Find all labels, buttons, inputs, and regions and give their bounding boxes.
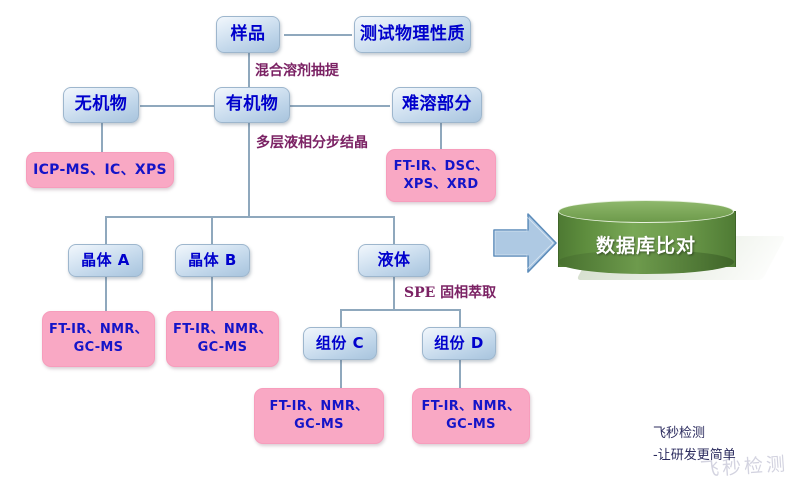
node-crystal-a[interactable]: 晶体 A <box>68 244 143 277</box>
connector-insoluble-to-methods <box>440 122 442 149</box>
node-sample[interactable]: 样品 <box>216 16 280 53</box>
connector-liquid-to-spe-bus <box>393 277 395 309</box>
node-liquid[interactable]: 液体 <box>358 244 430 277</box>
connector-inorganic-to-organic <box>140 105 214 107</box>
node-insoluble[interactable]: 难溶部分 <box>392 87 482 123</box>
methods-crystal-a-text: FT-IR、NMR、 GC-MS <box>49 321 148 356</box>
node-fraction-d[interactable]: 组份 D <box>422 327 496 360</box>
diagram-canvas: 样品 测试物理性质 无机物 有机物 难溶部分 晶体 A 晶体 B 液体 组份 C… <box>0 0 795 486</box>
methods-fraction-d-line1: FT-IR、NMR、 <box>422 399 521 414</box>
methods-crystal-b-line2: GC-MS <box>198 340 248 355</box>
connector-spe-to-fraction-c <box>340 309 342 327</box>
connector-bus-to-liquid <box>393 216 395 244</box>
cylinder-top-ellipse <box>558 200 734 223</box>
connector-sample-to-physical-test <box>284 34 352 36</box>
edge-label-crystallization: 多层液相分步结晶 <box>256 132 368 152</box>
methods-crystal-a-line1: FT-IR、NMR、 <box>49 322 148 337</box>
methods-crystal-a-line2: GC-MS <box>74 340 124 355</box>
connector-sample-to-organic <box>248 52 250 92</box>
connector-organic-to-bus <box>248 122 250 217</box>
connector-fraction-c-to-methods <box>340 360 342 388</box>
connector-spe-bus <box>340 309 460 311</box>
connector-fraction-d-to-methods <box>459 360 461 388</box>
right-arrow-icon <box>492 212 558 274</box>
database-label: 数据库比对 <box>558 222 734 266</box>
connector-branch-bus <box>105 216 395 218</box>
edge-label-extraction: 混合溶剂抽提 <box>255 60 339 80</box>
connector-crystal-a-to-methods <box>105 277 107 311</box>
node-crystal-b[interactable]: 晶体 B <box>175 244 250 277</box>
methods-fraction-d-text: FT-IR、NMR、 GC-MS <box>422 398 521 433</box>
methods-crystal-b-line1: FT-IR、NMR、 <box>173 322 272 337</box>
methods-crystal-b-text: FT-IR、NMR、 GC-MS <box>173 321 272 356</box>
connector-crystal-b-to-methods <box>211 277 213 311</box>
node-organic[interactable]: 有机物 <box>214 87 290 123</box>
brand-watermark: 飞秒检测 <box>699 449 789 482</box>
methods-fraction-c-text: FT-IR、NMR、 GC-MS <box>270 398 369 433</box>
connector-inorganic-to-methods <box>101 122 103 152</box>
methods-inorganic[interactable]: ICP-MS、IC、XPS <box>26 152 174 188</box>
connector-bus-to-crystal-a <box>105 216 107 244</box>
methods-fraction-d[interactable]: FT-IR、NMR、 GC-MS <box>412 388 530 444</box>
methods-crystal-b[interactable]: FT-IR、NMR、 GC-MS <box>166 311 279 367</box>
methods-insoluble-line1: FT-IR、DSC、 <box>394 159 489 174</box>
methods-insoluble[interactable]: FT-IR、DSC、 XPS、XRD <box>386 149 496 202</box>
node-inorganic[interactable]: 无机物 <box>63 87 139 123</box>
methods-fraction-c[interactable]: FT-IR、NMR、 GC-MS <box>254 388 384 444</box>
connector-spe-to-fraction-d <box>459 309 461 327</box>
edge-label-spe: SPE 固相萃取 <box>404 282 496 302</box>
methods-insoluble-line2: XPS、XRD <box>404 177 479 192</box>
database-cylinder[interactable]: 数据库比对 <box>558 200 734 276</box>
connector-organic-to-insoluble <box>285 105 390 107</box>
brand-line-1: 飞秒检测 <box>653 422 705 441</box>
methods-fraction-c-line1: FT-IR、NMR、 <box>270 399 369 414</box>
methods-inorganic-text: ICP-MS、IC、XPS <box>33 161 167 180</box>
methods-crystal-a[interactable]: FT-IR、NMR、 GC-MS <box>42 311 155 367</box>
connector-bus-to-crystal-b <box>211 216 213 244</box>
flow-arrow-to-database <box>492 212 558 274</box>
methods-insoluble-text: FT-IR、DSC、 XPS、XRD <box>394 158 489 193</box>
node-physical-test[interactable]: 测试物理性质 <box>354 16 471 53</box>
node-fraction-c[interactable]: 组份 C <box>303 327 377 360</box>
methods-fraction-c-line2: GC-MS <box>294 417 344 432</box>
methods-fraction-d-line2: GC-MS <box>446 417 496 432</box>
